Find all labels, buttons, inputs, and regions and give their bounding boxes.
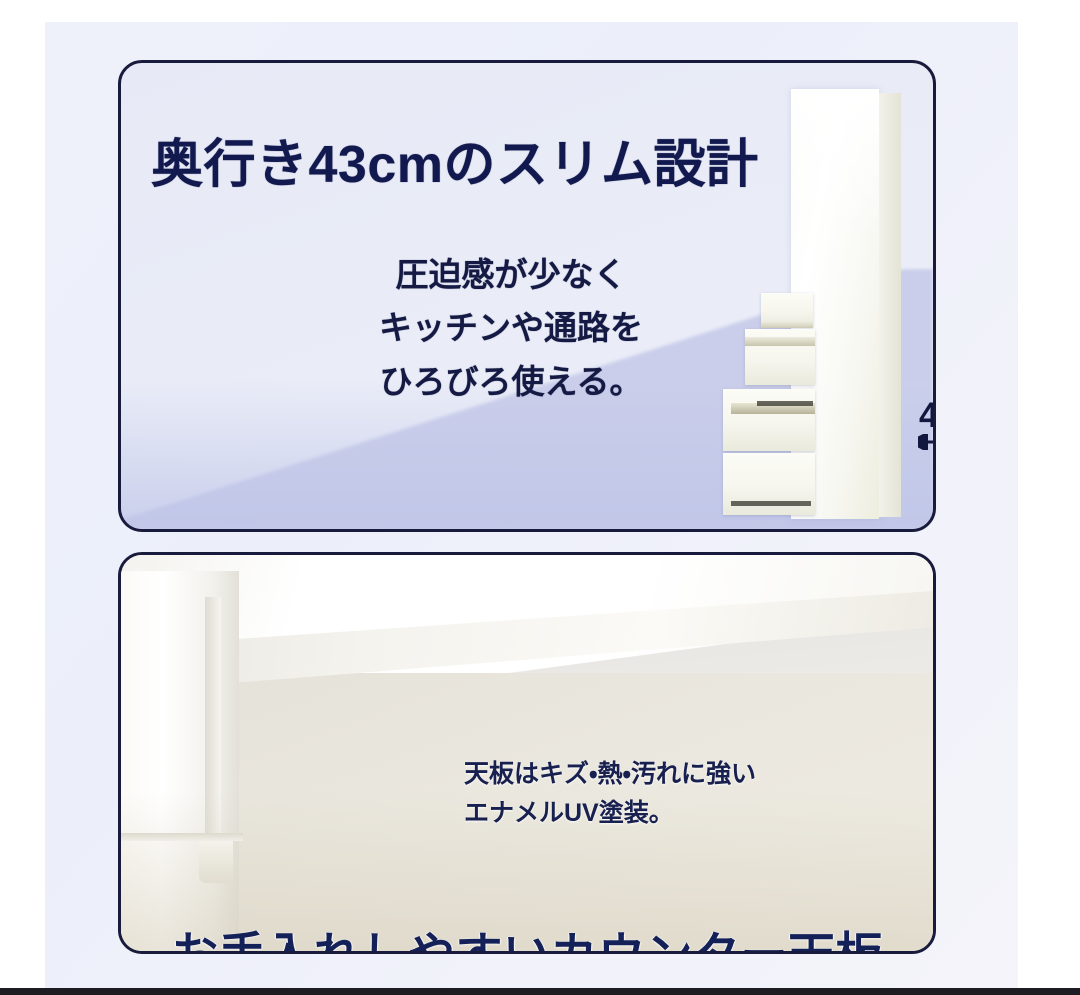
open-drawer-3: [723, 389, 815, 451]
counter-note-line-2: エナメルUV塗装。: [464, 794, 756, 833]
slim-design-title: 奥行き43cmのスリム設計: [151, 122, 759, 197]
counter-top-photo: [121, 555, 933, 951]
product-feature-page: 奥行き43cmのスリム設計 圧迫感が少なく キッチンや通路を ひろびろ使える。 …: [0, 0, 1080, 995]
slim-design-card: 奥行き43cmのスリム設計 圧迫感が少なく キッチンや通路を ひろびろ使える。 …: [118, 60, 936, 532]
counter-note-line-1: 天板はキズ・熱・汚れに強い: [464, 755, 756, 794]
slim-design-body: 圧迫感が少なく キッチンや通路を ひろびろ使える。: [379, 248, 643, 408]
counter-top-card: 天板はキズ・熱・汚れに強い エナメルUV塗装。 お手入れしやすいカウンター天板: [118, 552, 936, 954]
slim-body-line-2: キッチンや通路を: [379, 301, 643, 354]
drawer-handle-slot-upper: [757, 401, 813, 406]
slim-body-line-1: 圧迫感が少なく: [379, 248, 643, 301]
slim-body-line-3: ひろびろ使える。: [379, 355, 643, 408]
depth-dimension-label: 43cm: [919, 396, 936, 436]
open-drawer-1-face: [761, 321, 813, 328]
open-drawer-2-face: [745, 337, 815, 346]
cabinet-highlight: [791, 89, 879, 239]
counter-top-note: 天板はキズ・熱・汚れに強い エナメルUV塗装。: [464, 755, 756, 833]
cabinet-side-panel: [879, 93, 901, 517]
dimension-arrow-icon: [918, 434, 936, 450]
drawer-handle-slot-lower: [731, 501, 811, 506]
bottom-rule: [0, 988, 1080, 995]
counter-top-title: お手入れしやすいカウンター天板: [121, 916, 933, 954]
slim-cabinet-photo: [709, 71, 931, 526]
